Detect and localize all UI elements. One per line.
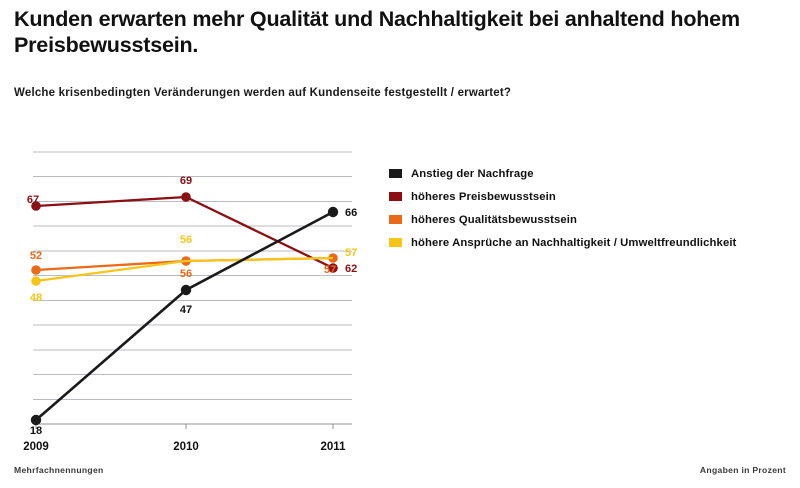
legend-item-label: höheres Preisbewusstsein: [411, 191, 556, 203]
data-point: [328, 207, 338, 217]
value-label-darkred-2011: 62: [345, 263, 357, 275]
x-tick-2010: 2010: [173, 441, 199, 453]
x-tick-2009: 2009: [23, 441, 49, 453]
legend-item-hoehere-ansprueche-nachhaltigkeit[interactable]: höhere Ansprüche an Nachhaltigkeit / Umw…: [389, 231, 789, 254]
value-label-orange-2010: 56: [180, 268, 192, 280]
legend-item-label: Anstieg der Nachfrage: [411, 168, 534, 180]
data-point: [181, 192, 191, 202]
chart-x-axis: [33, 424, 352, 429]
legend-swatch-icon: [389, 215, 402, 224]
legend-item-hoeheres-qualitaetsbewusstsein[interactable]: höheres Qualitätsbewusstsein: [389, 208, 789, 231]
data-point: [31, 415, 41, 425]
value-label-black-2009: 18: [30, 425, 42, 437]
legend-item-anstieg-der-nachfrage[interactable]: Anstieg der Nachfrage: [389, 162, 789, 185]
data-point: [31, 276, 41, 286]
value-label-black-2011: 66: [345, 207, 357, 219]
slide-canvas: Kunden erwarten mehr Qualität und Nachha…: [0, 0, 800, 488]
x-tick-2011: 2011: [321, 441, 347, 453]
value-label-black-2010: 47: [180, 304, 192, 316]
value-label-darkred-2010: 69: [180, 175, 192, 187]
data-point: [31, 265, 41, 275]
value-label-yellow-2009: 48: [30, 292, 42, 304]
legend-swatch-icon: [389, 169, 402, 178]
value-label-orange-2009: 52: [30, 250, 42, 262]
value-label-yellow-2010: 56: [180, 234, 192, 246]
legend-item-hoeheres-preisbewusstsein[interactable]: höheres Preisbewusstsein: [389, 185, 789, 208]
chart-legend: Anstieg der Nachfrage höheres Preisbewus…: [389, 162, 789, 254]
legend-swatch-icon: [389, 238, 402, 247]
value-label-orange-2011: 57: [324, 264, 336, 276]
footnote-right: Angaben in Prozent: [700, 465, 786, 475]
data-point: [181, 285, 191, 295]
legend-item-label: höhere Ansprüche an Nachhaltigkeit / Umw…: [411, 237, 736, 249]
value-label-yellow-2011: 57: [345, 247, 357, 259]
legend-swatch-icon: [389, 192, 402, 201]
footnote-left: Mehrfachnennungen: [14, 465, 104, 475]
legend-item-label: höheres Qualitätsbewusstsein: [411, 214, 577, 226]
value-label-darkred-2009: 67: [27, 194, 39, 206]
